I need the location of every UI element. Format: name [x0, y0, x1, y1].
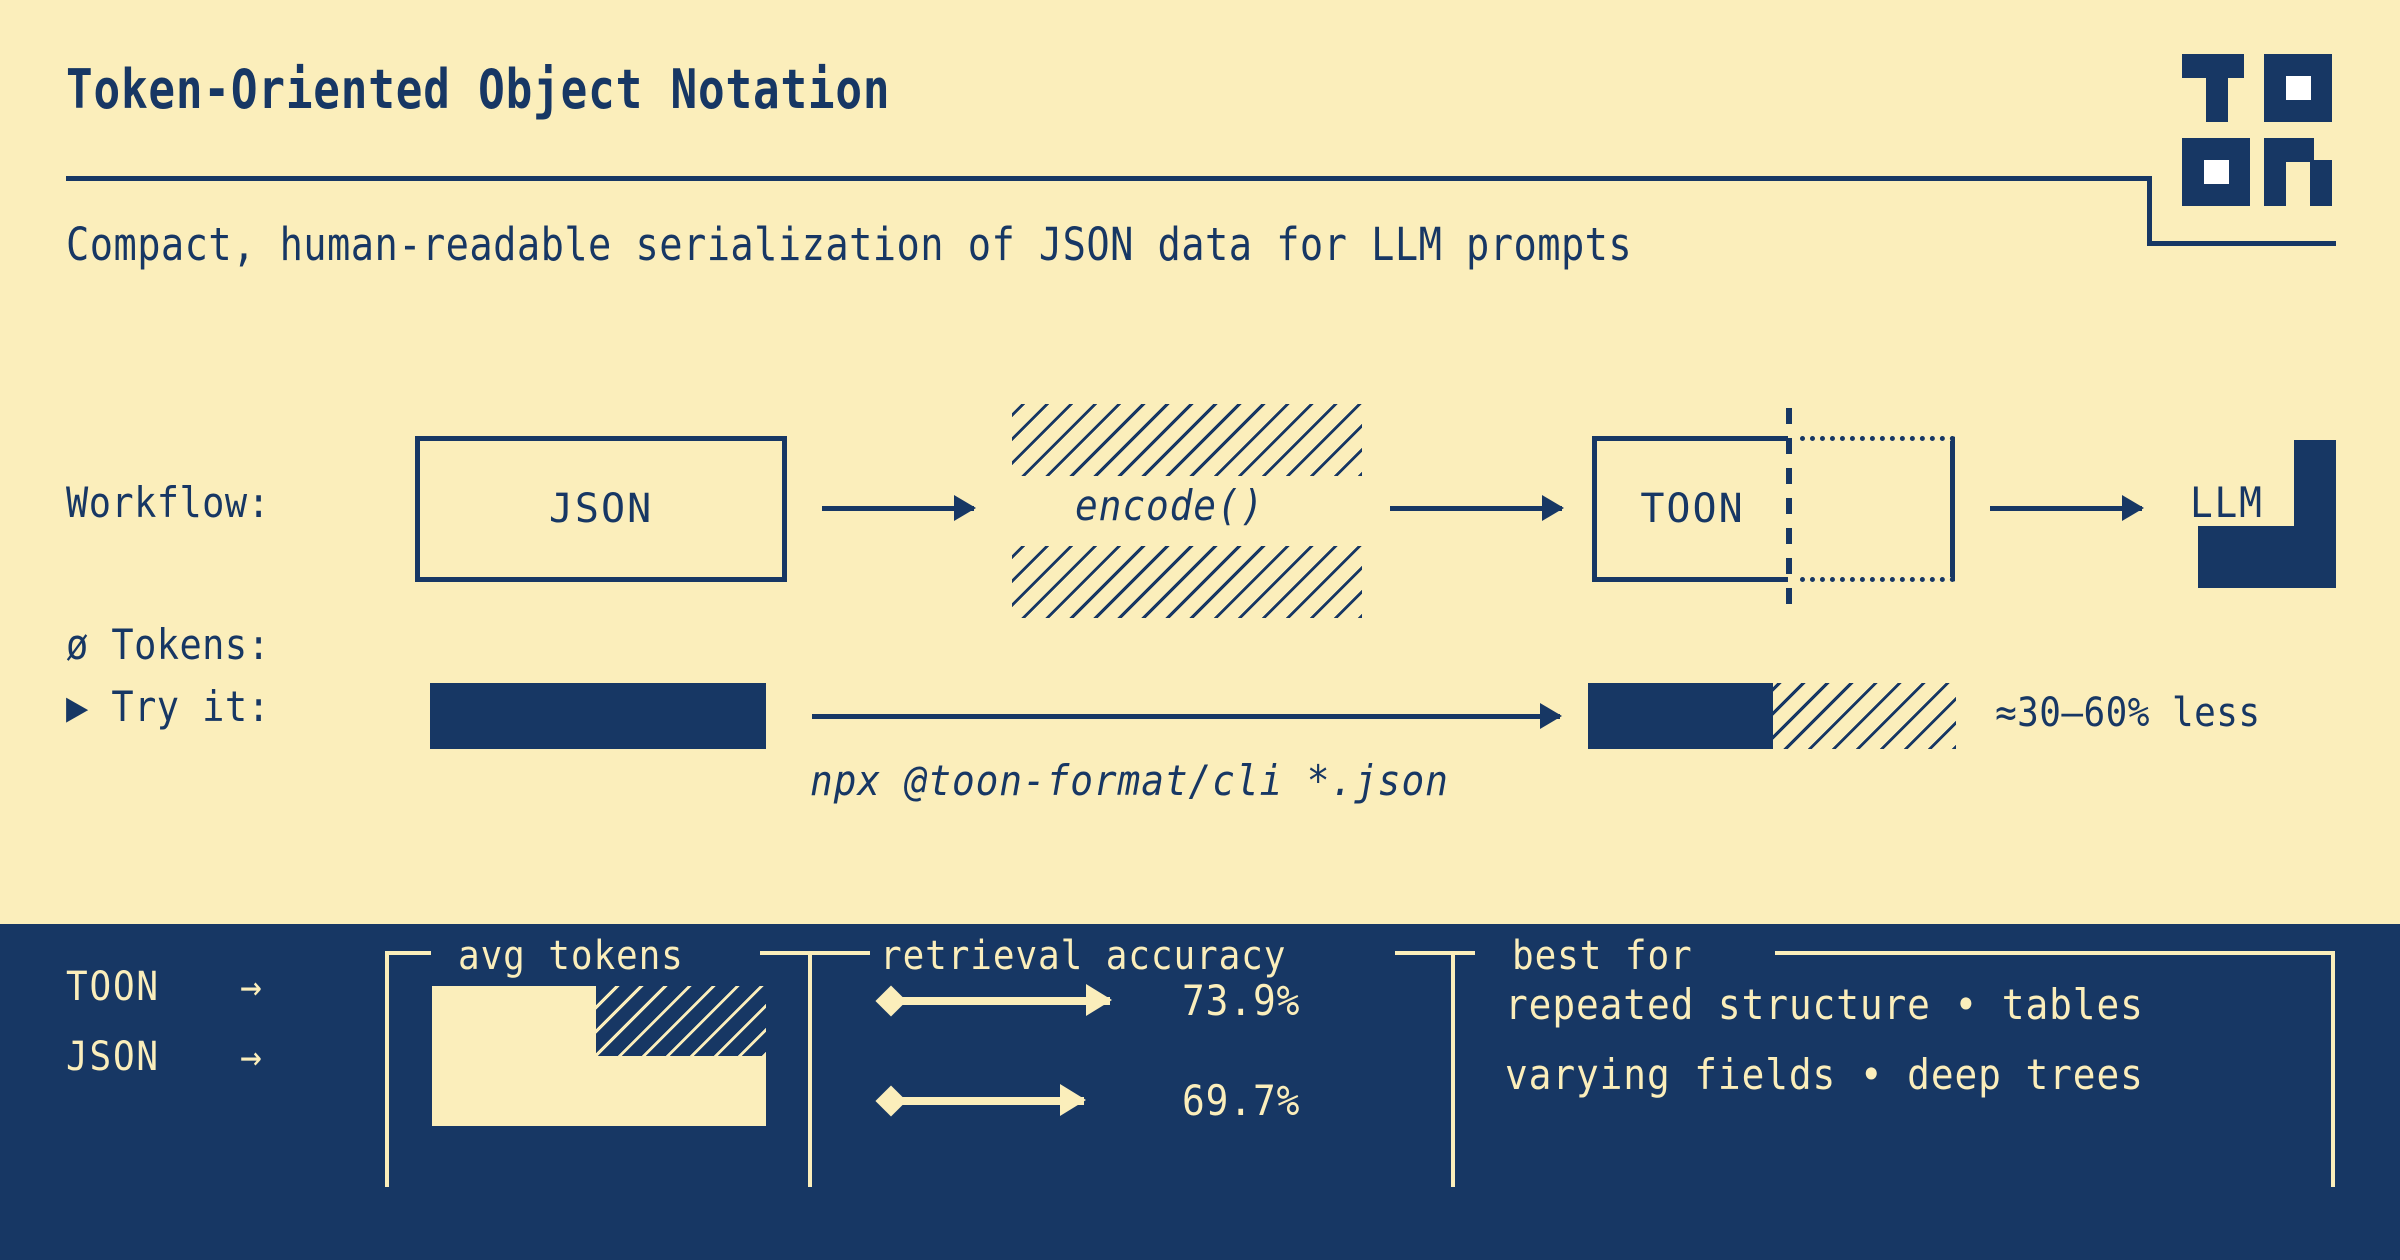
avg-tokens-frame-top-r: [760, 951, 812, 955]
accuracy-arrow-toon: [898, 997, 1110, 1005]
avg-tokens-bar-toon-solid: [432, 986, 596, 1056]
page-subtitle: Compact, human-readable serialization of…: [66, 218, 1632, 271]
arrow-right-icon: [822, 506, 974, 511]
stats-panel: TOON → JSON → avg tokens retrieval accur…: [0, 924, 2400, 1260]
workflow-label: Workflow:: [66, 478, 270, 527]
avg-tokens-frame-top-l: [385, 951, 431, 955]
tokens-bar-toon-solid: [1588, 683, 1773, 749]
retrieval-legend: retrieval accuracy: [880, 933, 1286, 979]
stats-row-label-toon: TOON: [66, 964, 160, 1010]
arrow-right-icon: [1990, 506, 2142, 511]
accuracy-arrow-json: [898, 1097, 1084, 1105]
best-for-frame-right: [2331, 951, 2335, 1187]
avg-tokens-legend: avg tokens: [458, 933, 684, 979]
accuracy-value-toon: 73.9%: [1182, 976, 1300, 1025]
best-for-frame-top-l: [1413, 951, 1475, 955]
stats-row-label-json: JSON: [66, 1034, 160, 1080]
workflow-step-toon[interactable]: TOON: [1592, 436, 1788, 582]
cli-command[interactable]: npx @toon-format/cli *.json: [810, 756, 1449, 805]
tokens-savings-label: ≈30–60% less: [1995, 690, 2260, 736]
tokens-bar-json: [430, 683, 766, 749]
best-for-frame-top-r: [1775, 951, 2335, 955]
tokens-label: ø Tokens:: [66, 620, 270, 669]
arrow-right-icon: [812, 714, 1560, 719]
stats-row-arrow-toon: →: [240, 964, 262, 1010]
workflow-step-llm: LLM: [2190, 478, 2264, 527]
avg-tokens-bar-toon-hatch: [596, 986, 766, 1056]
workflow-step-toon-label: TOON: [1640, 486, 1744, 532]
avg-tokens-frame-left: [385, 951, 389, 1187]
best-for-frame-left: [1451, 951, 1455, 1187]
header-divider: [66, 176, 2152, 181]
retrieval-frame-left: [808, 951, 812, 1187]
toon-split-divider: [1786, 408, 1792, 608]
retrieval-frame-top-l: [808, 951, 870, 955]
toon-logo-icon: [2182, 54, 2334, 206]
try-it-label: ▶ Try it:: [66, 682, 270, 731]
accuracy-value-json: 69.7%: [1182, 1076, 1300, 1125]
best-for-legend: best for: [1512, 933, 1693, 979]
toon-ghost-box: [1800, 436, 1955, 582]
avg-tokens-bar-json: [432, 1056, 766, 1126]
arrow-right-icon: [1390, 506, 1562, 511]
best-for-line-2: varying fields • deep trees: [1505, 1050, 2144, 1099]
encode-hatch-top: [1012, 404, 1362, 476]
page-title: Token-Oriented Object Notation: [66, 58, 890, 121]
poster-root: Token-Oriented Object Notation Compact, …: [0, 0, 2400, 1260]
best-for-line-1: repeated structure • tables: [1505, 980, 2144, 1029]
workflow-step-json-label: JSON: [549, 486, 653, 532]
header-divider-drop: [2147, 176, 2152, 246]
workflow-step-encode: encode(): [1075, 481, 1264, 530]
tokens-bar-toon-hatch: [1773, 683, 1956, 749]
stats-row-arrow-json: →: [240, 1034, 262, 1080]
workflow-step-json[interactable]: JSON: [415, 436, 787, 582]
header-divider-tail: [2147, 241, 2336, 246]
encode-hatch-bottom: [1012, 546, 1362, 618]
